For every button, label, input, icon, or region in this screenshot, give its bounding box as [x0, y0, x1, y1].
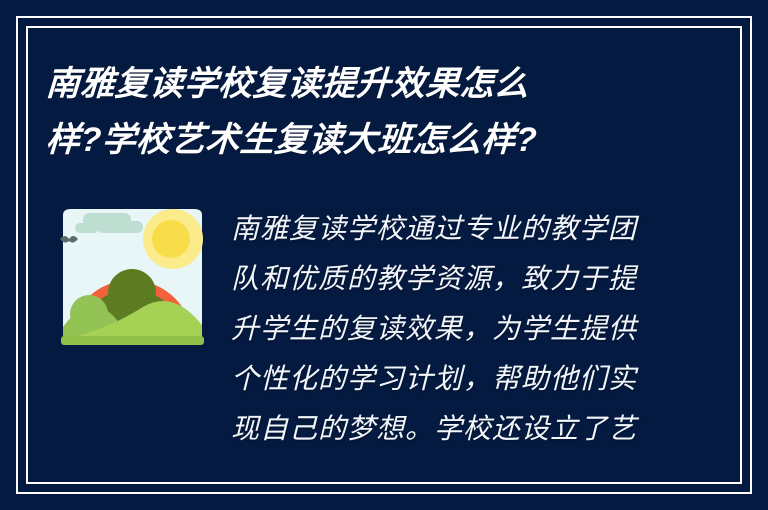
body-line-1: 南雅复读学校通过专业的教学团	[231, 205, 646, 255]
page-title: 南雅复读学校复读提升效果怎么 样?学校艺术生复读大班怎么样?	[46, 56, 606, 168]
poster-canvas: 南雅复读学校复读提升效果怎么 样?学校艺术生复读大班怎么样?	[0, 0, 768, 510]
body-line-3: 升学生的复读效果，为学生提供	[231, 305, 646, 355]
body-line-2: 队和优质的教学资源，致力于提	[231, 255, 646, 305]
body-paragraph: 南雅复读学校通过专业的教学团 队和优质的教学资源，致力于提 升学生的复读效果，为…	[231, 205, 646, 455]
body-line-5: 现自己的梦想。学校还设立了艺	[231, 405, 646, 455]
body-line-4: 个性化的学习计划，帮助他们实	[231, 355, 646, 405]
title-line-1: 南雅复读学校复读提升效果怎么	[45, 56, 608, 112]
landscape-rainbow-icon	[55, 201, 210, 356]
title-line-2: 样?学校艺术生复读大班怎么样?	[45, 112, 608, 168]
